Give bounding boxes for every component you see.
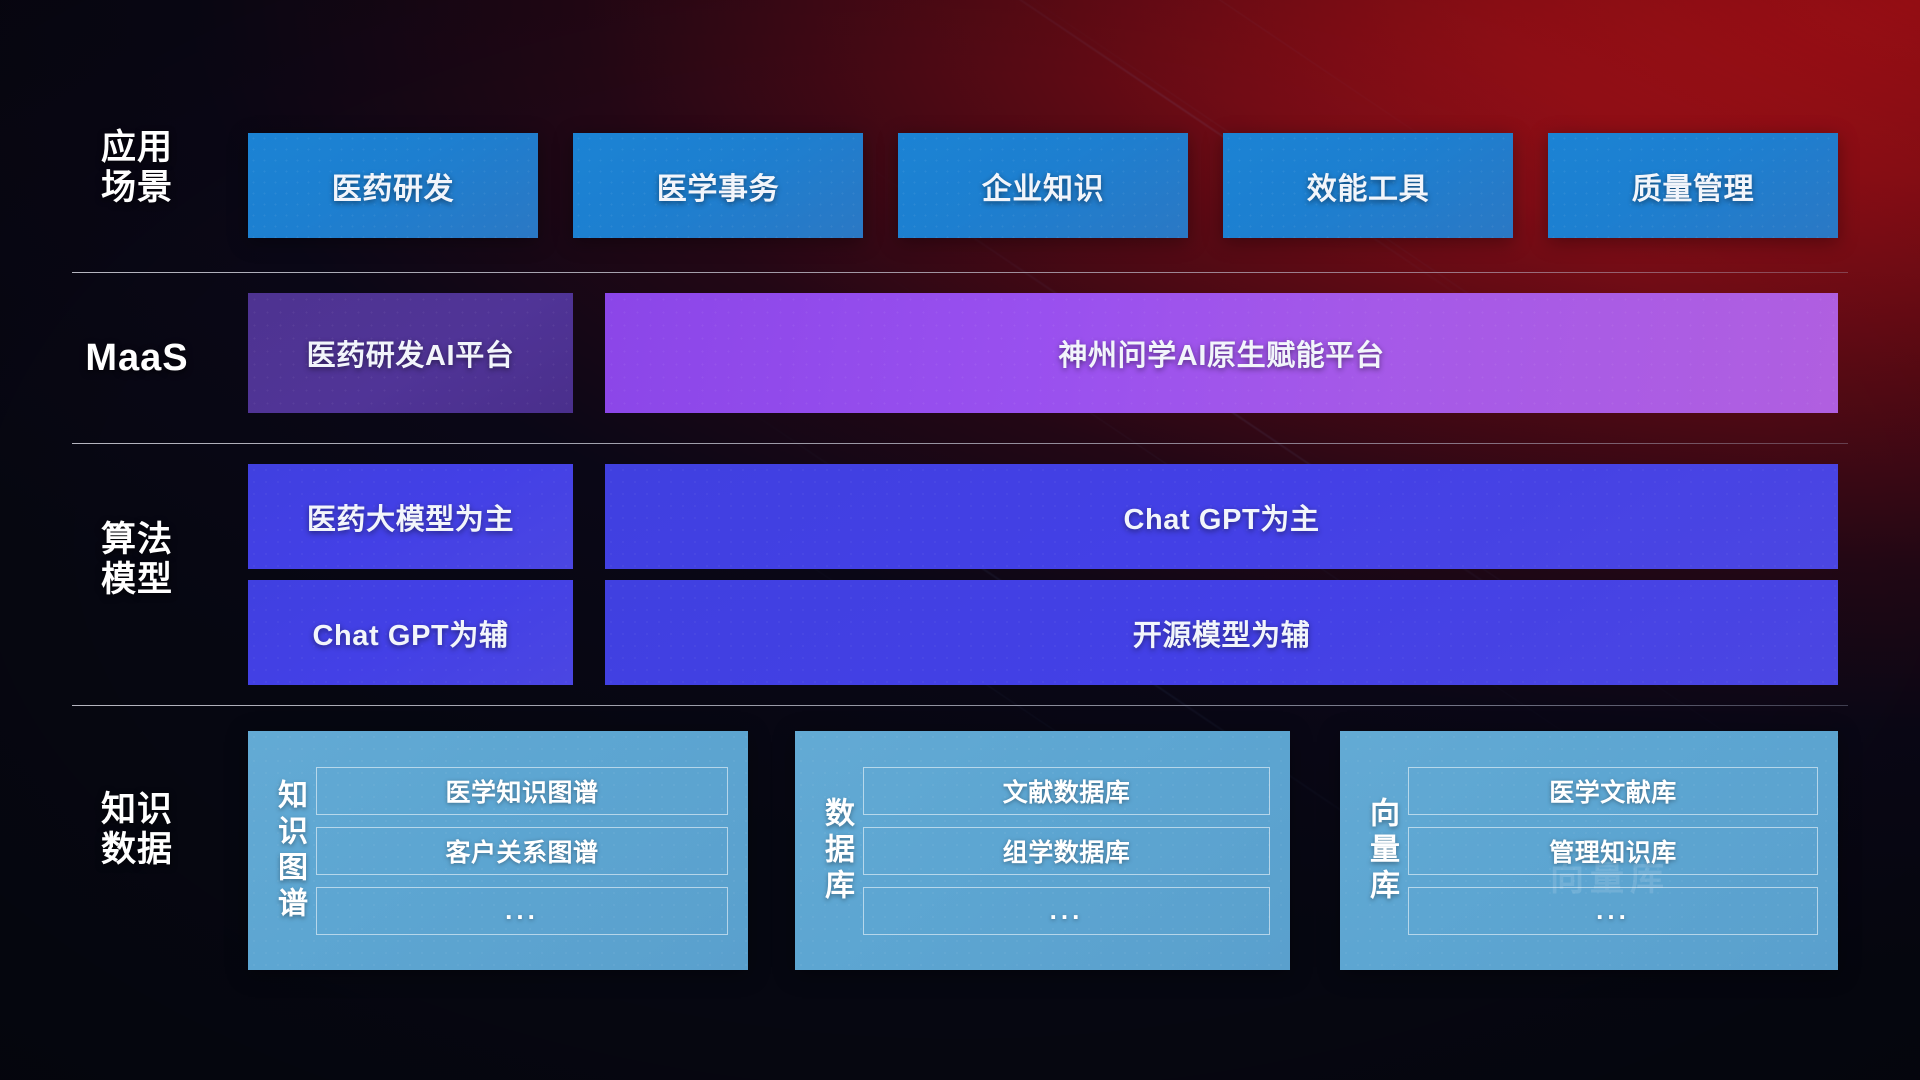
- maas-card-pharma-ai-platform-label: 医药研发AI平台: [307, 332, 515, 374]
- app-card-2-label: 医学事务: [657, 164, 779, 208]
- knowledge-item-more[interactable]: ...: [863, 887, 1270, 935]
- knowledge-group-database-label: 数据库: [809, 747, 863, 954]
- knowledge-item-more[interactable]: ...: [316, 887, 728, 935]
- knowledge-item[interactable]: 文献数据库: [863, 767, 1270, 815]
- divider-2: [72, 443, 1848, 444]
- algo-card-chatgpt-secondary-label: Chat GPT为辅: [312, 612, 508, 654]
- maas-card-pharma-ai-platform[interactable]: 医药研发AI平台: [248, 293, 573, 413]
- app-card-1-label: 医药研发: [332, 164, 454, 208]
- algo-card-pharma-llm-primary-label: 医药大模型为主: [307, 496, 514, 538]
- app-card-4-label: 效能工具: [1307, 164, 1429, 208]
- knowledge-item[interactable]: 管理知识库: [1408, 827, 1818, 875]
- app-card-1[interactable]: 医药研发: [248, 133, 538, 238]
- divider-1: [72, 272, 1848, 273]
- knowledge-group-knowledge-graph-items: 医学知识图谱 客户关系图谱 ...: [316, 747, 728, 954]
- row-label-application-scenarios: 应用 场景: [72, 128, 202, 208]
- knowledge-item[interactable]: 医学知识图谱: [316, 767, 728, 815]
- maas-card-shenzhou-platform-label: 神州问学AI原生赋能平台: [1058, 332, 1384, 374]
- knowledge-item[interactable]: 医学文献库: [1408, 767, 1818, 815]
- knowledge-group-vector-store-label: 向量库: [1354, 747, 1408, 954]
- knowledge-item-more[interactable]: ...: [1408, 887, 1818, 935]
- app-card-4[interactable]: 效能工具: [1223, 133, 1513, 238]
- app-card-5-label: 质量管理: [1632, 164, 1754, 208]
- app-card-5[interactable]: 质量管理: [1548, 133, 1838, 238]
- app-card-3-label: 企业知识: [982, 164, 1104, 208]
- maas-card-shenzhou-platform[interactable]: 神州问学AI原生赋能平台: [605, 293, 1838, 413]
- algo-card-chatgpt-primary[interactable]: Chat GPT为主: [605, 464, 1838, 569]
- knowledge-item[interactable]: 客户关系图谱: [316, 827, 728, 875]
- algo-card-opensource-secondary[interactable]: 开源模型为辅: [605, 580, 1838, 685]
- row-label-knowledge-data: 知识 数据: [72, 790, 202, 870]
- algo-card-opensource-secondary-label: 开源模型为辅: [1133, 612, 1311, 654]
- app-card-2[interactable]: 医学事务: [573, 133, 863, 238]
- knowledge-group-knowledge-graph[interactable]: 知识图谱 医学知识图谱 客户关系图谱 ...: [248, 731, 748, 970]
- divider-3: [72, 705, 1848, 706]
- knowledge-group-vector-store[interactable]: 向量库 向量库 医学文献库 管理知识库 ...: [1340, 731, 1838, 970]
- knowledge-group-database[interactable]: 数据库 文献数据库 组学数据库 ...: [795, 731, 1290, 970]
- app-card-3[interactable]: 企业知识: [898, 133, 1188, 238]
- knowledge-group-vector-store-items: 医学文献库 管理知识库 ...: [1408, 747, 1818, 954]
- algo-card-pharma-llm-primary[interactable]: 医药大模型为主: [248, 464, 573, 569]
- algo-card-chatgpt-primary-label: Chat GPT为主: [1123, 496, 1319, 538]
- knowledge-group-knowledge-graph-label: 知识图谱: [262, 747, 316, 954]
- algo-card-chatgpt-secondary[interactable]: Chat GPT为辅: [248, 580, 573, 685]
- knowledge-item[interactable]: 组学数据库: [863, 827, 1270, 875]
- row-label-maas: MaaS: [72, 337, 202, 380]
- row-label-algorithm-model: 算法 模型: [72, 520, 202, 600]
- knowledge-group-database-items: 文献数据库 组学数据库 ...: [863, 747, 1270, 954]
